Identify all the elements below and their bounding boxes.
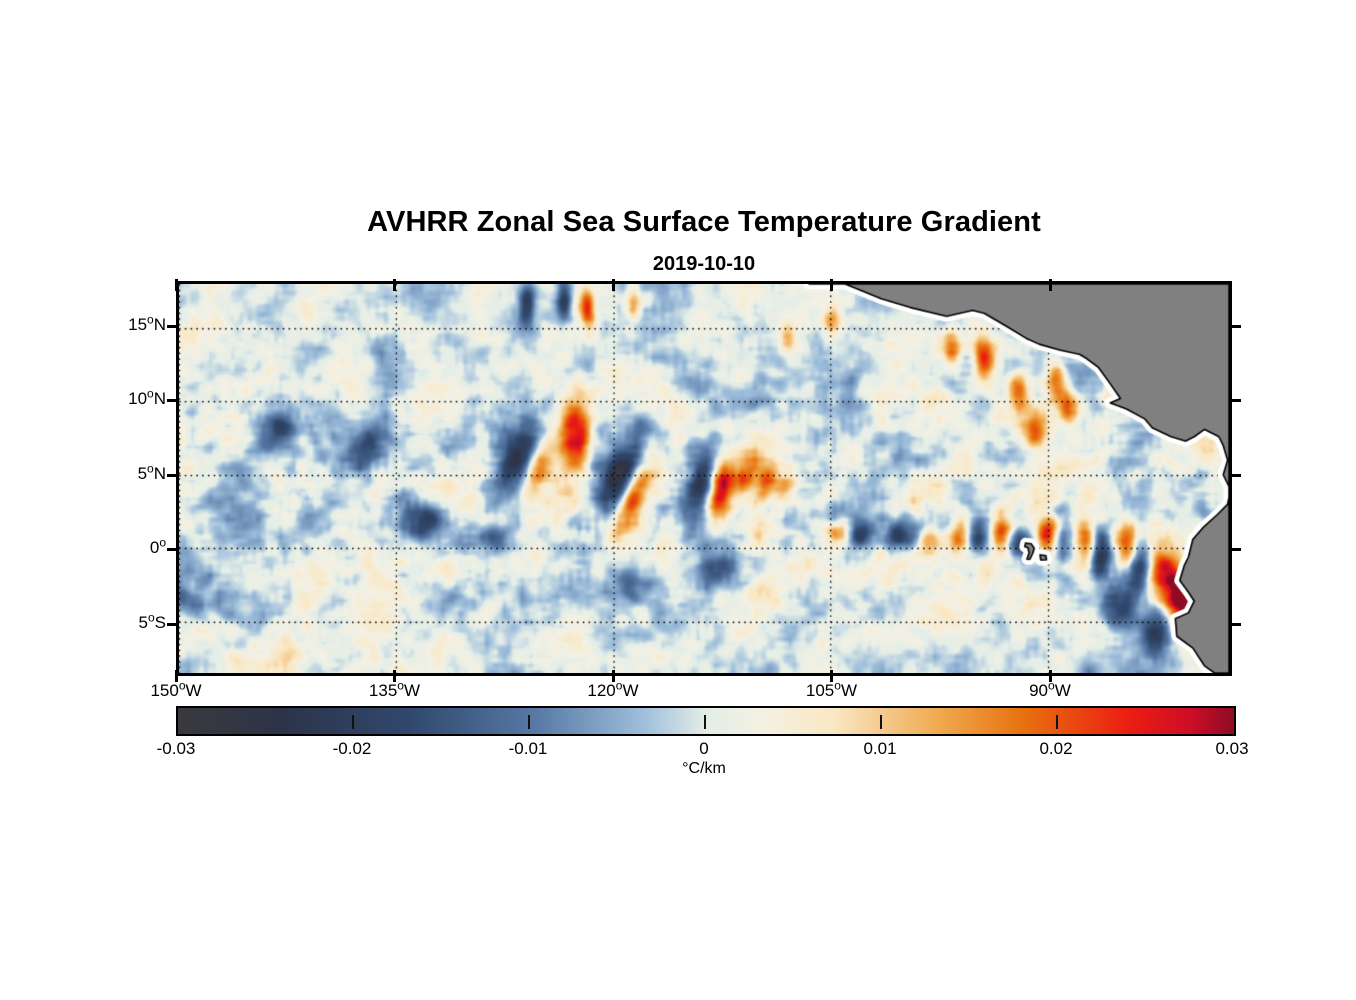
ytick-mark (167, 325, 179, 328)
figure-date-subtitle: 2019-10-10 (176, 253, 1232, 276)
ytick-mark (1229, 474, 1241, 477)
ytick-label-5°N: 5oN (46, 464, 166, 484)
page-title: AVHRR Zonal Sea Surface Temperature Grad… (176, 206, 1232, 239)
ytick-mark (167, 623, 179, 626)
colorbar-tick (880, 715, 882, 729)
xtick-label-105°W: 105oW (751, 681, 911, 701)
xtick-label-120°W: 120oW (533, 681, 693, 701)
ytick-label-15°N: 15oN (46, 315, 166, 335)
xtick-label-135°W: 135oW (314, 681, 474, 701)
colorbar-tick-label-0: 0 (634, 739, 774, 759)
ytick-mark (1229, 399, 1241, 402)
colorbar (176, 706, 1232, 732)
colorbar-tick-label-0.03: 0.03 (1162, 739, 1302, 759)
colorbar-tick-label--0.02: -0.02 (282, 739, 422, 759)
ytick-mark (167, 399, 179, 402)
ytick-mark (1229, 325, 1241, 328)
xtick-mark (175, 670, 178, 682)
ytick-mark (167, 474, 179, 477)
xtick-mark (612, 670, 615, 682)
colorbar-tick-label-0.01: 0.01 (810, 739, 950, 759)
figure-root: AVHRR Zonal Sea Surface Temperature Grad… (0, 0, 1356, 1000)
xtick-mark (1049, 670, 1052, 682)
xtick-mark (393, 670, 396, 682)
colorbar-tick-label--0.01: -0.01 (458, 739, 598, 759)
ytick-mark (1229, 548, 1241, 551)
ytick-mark (167, 548, 179, 551)
colorbar-unit-label: °C/km (176, 760, 1232, 778)
colorbar-gradient (176, 706, 1236, 736)
ytick-mark (1229, 623, 1241, 626)
colorbar-tick-label--0.03: -0.03 (106, 739, 246, 759)
xtick-label-150°W: 150oW (96, 681, 256, 701)
xtick-mark (830, 670, 833, 682)
colorbar-tick (528, 715, 530, 729)
xtick-mark (612, 279, 615, 291)
ytick-label-0°: 0o (46, 538, 166, 558)
xtick-mark (830, 279, 833, 291)
ytick-label-5°S: 5oS (46, 613, 166, 633)
colorbar-tick-label-0.02: 0.02 (986, 739, 1126, 759)
ytick-label-10°N: 10oN (46, 389, 166, 409)
colorbar-tick (1056, 715, 1058, 729)
xtick-mark (175, 279, 178, 291)
xtick-mark (1049, 279, 1052, 291)
xtick-label-90°W: 90oW (970, 681, 1130, 701)
colorbar-tick (352, 715, 354, 729)
colorbar-tick (704, 715, 706, 729)
map-plot-area (176, 281, 1232, 676)
sst-gradient-heatmap (179, 284, 1229, 673)
xtick-mark (393, 279, 396, 291)
